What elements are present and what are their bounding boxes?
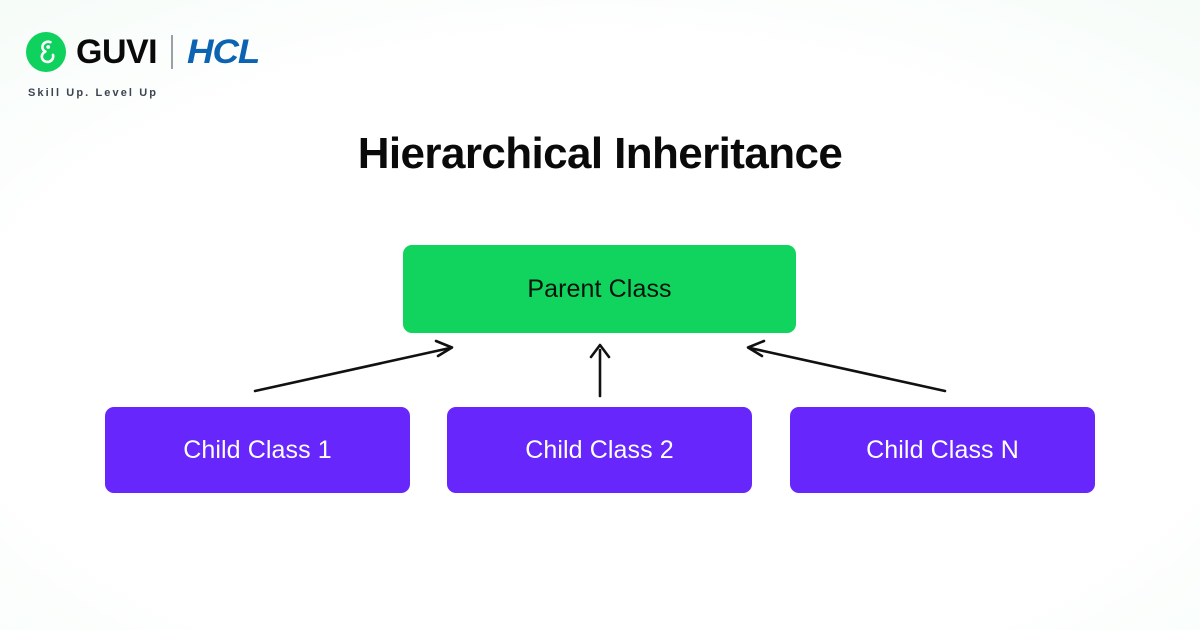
child-class-n-label: Child Class N [866,436,1019,465]
child-class-n-node[interactable]: Child Class N [790,407,1095,493]
slide-canvas: GUVI HCL Skill Up. Level Up Hierarchical… [0,0,1200,630]
parent-class-node[interactable]: Parent Class [403,245,796,333]
arrow-child-2-to-parent [591,345,609,396]
arrow-child-n-to-parent [748,341,945,391]
brand-tagline: Skill Up. Level Up [28,87,158,99]
brand-lockup: GUVI HCL Skill Up. Level Up [26,28,254,99]
arrow-child-1-to-parent [255,341,452,391]
brand-divider [171,35,173,69]
page-title: Hierarchical Inheritance [0,129,1200,179]
parent-class-label: Parent Class [527,275,671,304]
child-class-1-node[interactable]: Child Class 1 [105,407,410,493]
child-class-1-label: Child Class 1 [183,436,332,465]
hcl-wordmark: HCL [187,35,259,69]
guvi-g-mark-icon [26,32,66,72]
child-class-2-label: Child Class 2 [525,436,674,465]
brand-logos-row: GUVI HCL [26,28,254,76]
guvi-wordmark: GUVI [76,35,157,69]
child-class-2-node[interactable]: Child Class 2 [447,407,752,493]
